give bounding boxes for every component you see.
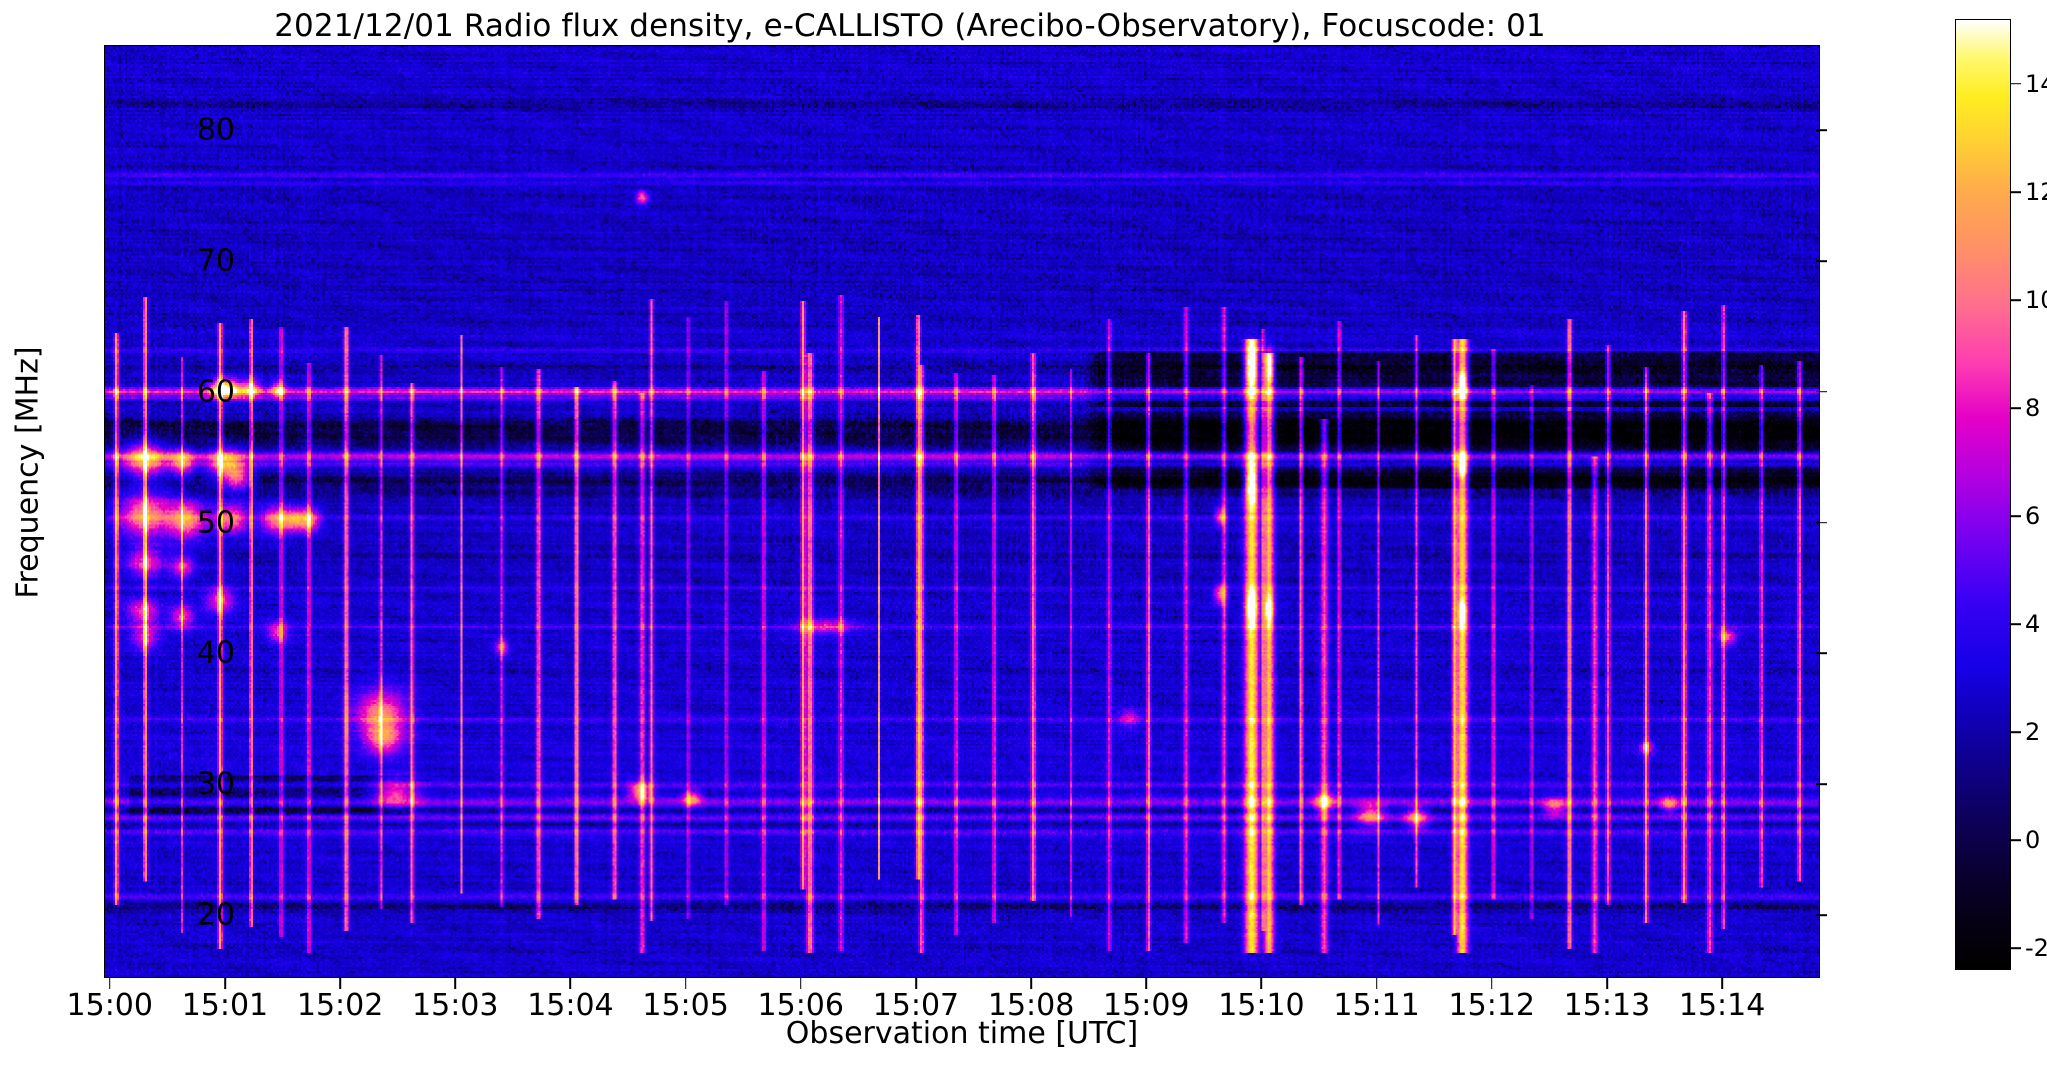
x-tick-label: 15:14 xyxy=(1612,988,1832,1023)
figure-canvas: 2021/12/01 Radio flux density, e-CALLIST… xyxy=(0,0,2047,1067)
page-title: 2021/12/01 Radio flux density, e-CALLIST… xyxy=(0,8,1820,44)
colorbar-tick-label: 10 xyxy=(2025,286,2047,314)
y-tick-label: 60 xyxy=(35,374,235,409)
colorbar-tick-mark xyxy=(2011,840,2021,842)
colorbar-tick-mark xyxy=(2011,299,2021,301)
y-tick-mark xyxy=(1816,522,1827,524)
x-tick-mark xyxy=(570,978,572,989)
x-tick-mark xyxy=(1721,978,1723,989)
colorbar-tick-label: 6 xyxy=(2025,502,2040,530)
colorbar-tick-mark xyxy=(2011,191,2021,193)
colorbar-tick-label: 12 xyxy=(2025,178,2047,206)
x-tick-mark xyxy=(1376,978,1378,989)
x-tick-mark xyxy=(109,978,111,989)
colorbar-tick-mark xyxy=(2011,407,2021,409)
y-tick-mark xyxy=(1816,653,1827,655)
colorbar-tick-mark xyxy=(2011,623,2021,625)
colorbar-tick-label: 0 xyxy=(2025,826,2040,854)
y-tick-label: 80 xyxy=(35,113,235,148)
colorbar-tick-mark xyxy=(2011,731,2021,733)
x-tick-mark xyxy=(454,978,456,989)
y-tick-label: 30 xyxy=(35,767,235,802)
colorbar-tick-label: -2 xyxy=(2025,934,2047,962)
y-tick-mark xyxy=(1816,260,1827,262)
colorbar-tick-mark xyxy=(2011,515,2021,517)
colorbar: -202468101214 xyxy=(1955,19,2011,970)
x-tick-mark xyxy=(224,978,226,989)
y-tick-mark xyxy=(1816,129,1827,131)
y-tick-mark xyxy=(1816,391,1827,393)
colorbar-tick-label: 14 xyxy=(2025,70,2047,98)
x-tick-mark xyxy=(685,978,687,989)
colorbar-gradient xyxy=(1955,19,2011,970)
y-tick-mark xyxy=(1816,784,1827,786)
spectrogram-image xyxy=(105,46,1819,977)
y-tick-label: 50 xyxy=(35,505,235,540)
y-tick-label: 20 xyxy=(35,898,235,933)
spectrogram-axes xyxy=(104,45,1820,978)
x-tick-mark xyxy=(1145,978,1147,989)
colorbar-tick-label: 8 xyxy=(2025,394,2040,422)
x-tick-mark xyxy=(339,978,341,989)
x-tick-mark xyxy=(1261,978,1263,989)
y-tick-mark xyxy=(1816,914,1827,916)
colorbar-tick-mark xyxy=(2011,948,2021,950)
x-tick-mark xyxy=(800,978,802,989)
colorbar-tick-label: 4 xyxy=(2025,610,2040,638)
y-tick-label: 40 xyxy=(35,636,235,671)
x-tick-mark xyxy=(915,978,917,989)
colorbar-tick-mark xyxy=(2011,83,2021,85)
y-tick-label: 70 xyxy=(35,243,235,278)
x-tick-mark xyxy=(1606,978,1608,989)
x-tick-mark xyxy=(1491,978,1493,989)
x-tick-mark xyxy=(1030,978,1032,989)
colorbar-tick-label: 2 xyxy=(2025,718,2040,746)
